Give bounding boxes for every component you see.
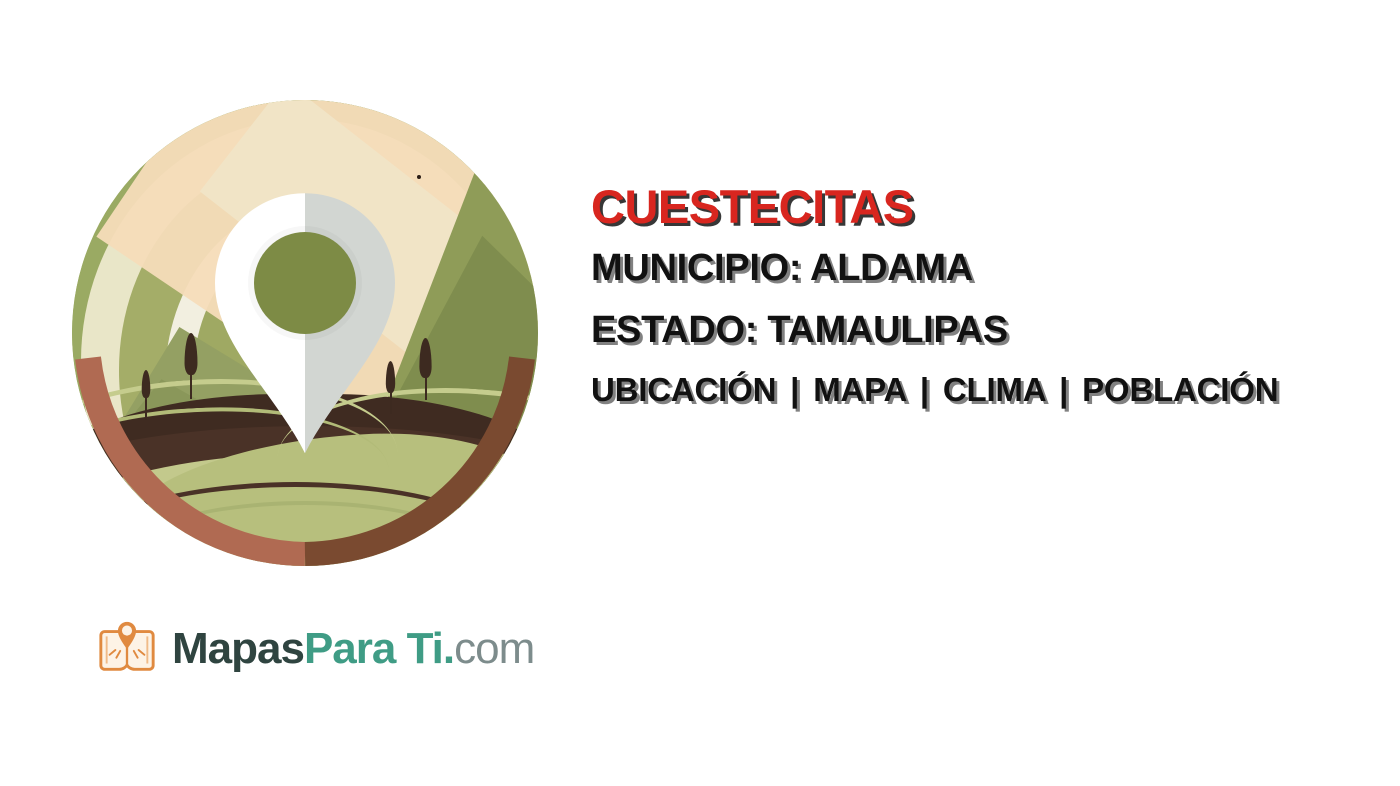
- nav-separator-3: |: [1054, 371, 1073, 408]
- poster-canvas: CUESTECITAS MUNICIPIO: ALDAMA ESTADO: TA…: [0, 0, 1400, 786]
- nav-separator-1: |: [785, 371, 804, 408]
- cypress-tree-icon-left-large: [182, 333, 200, 395]
- info-text-block: CUESTECITAS MUNICIPIO: ALDAMA ESTADO: TA…: [591, 183, 1391, 406]
- brand-wordmark: MapasPara Ti.com: [172, 627, 534, 671]
- page-title: CUESTECITAS: [591, 183, 1391, 230]
- estado-line: ESTADO: TAMAULIPAS: [591, 311, 1391, 349]
- tree-trunk: [425, 372, 427, 400]
- nav-item-mapa[interactable]: MAPA: [813, 371, 906, 408]
- nav-item-clima[interactable]: CLIMA: [943, 371, 1045, 408]
- map-pin-icon: [215, 193, 395, 453]
- book-pin-svg: [96, 618, 158, 680]
- cypress-tree-icon-left-small: [140, 370, 152, 418]
- bird-speck-icon: [417, 175, 421, 179]
- tree-trunk: [190, 369, 192, 399]
- nav-separator-2: |: [915, 371, 934, 408]
- municipio-line: MUNICIPIO: ALDAMA: [591, 249, 1391, 287]
- map-pin-center-circle: [254, 232, 356, 334]
- section-nav: UBICACIÓN | MAPA | CLIMA | POBLACIÓN: [591, 373, 1391, 406]
- nav-item-poblacion[interactable]: POBLACIÓN: [1082, 371, 1278, 408]
- brand-part-com: com: [454, 624, 534, 673]
- tree-trunk: [145, 394, 147, 420]
- nav-item-ubicacion[interactable]: UBICACIÓN: [591, 371, 776, 408]
- brand-logo[interactable]: MapasPara Ti.com: [96, 618, 534, 680]
- open-book-with-map-pin-icon: [96, 618, 158, 680]
- circular-landscape-emblem: [72, 100, 538, 566]
- pin-center-dot: [122, 626, 132, 636]
- cypress-tree-icon-right-large: [417, 338, 434, 398]
- brand-part-mapas: Mapas: [172, 624, 304, 673]
- brand-part-parati: Para Ti.: [304, 624, 454, 673]
- emblem-scene: [72, 100, 538, 566]
